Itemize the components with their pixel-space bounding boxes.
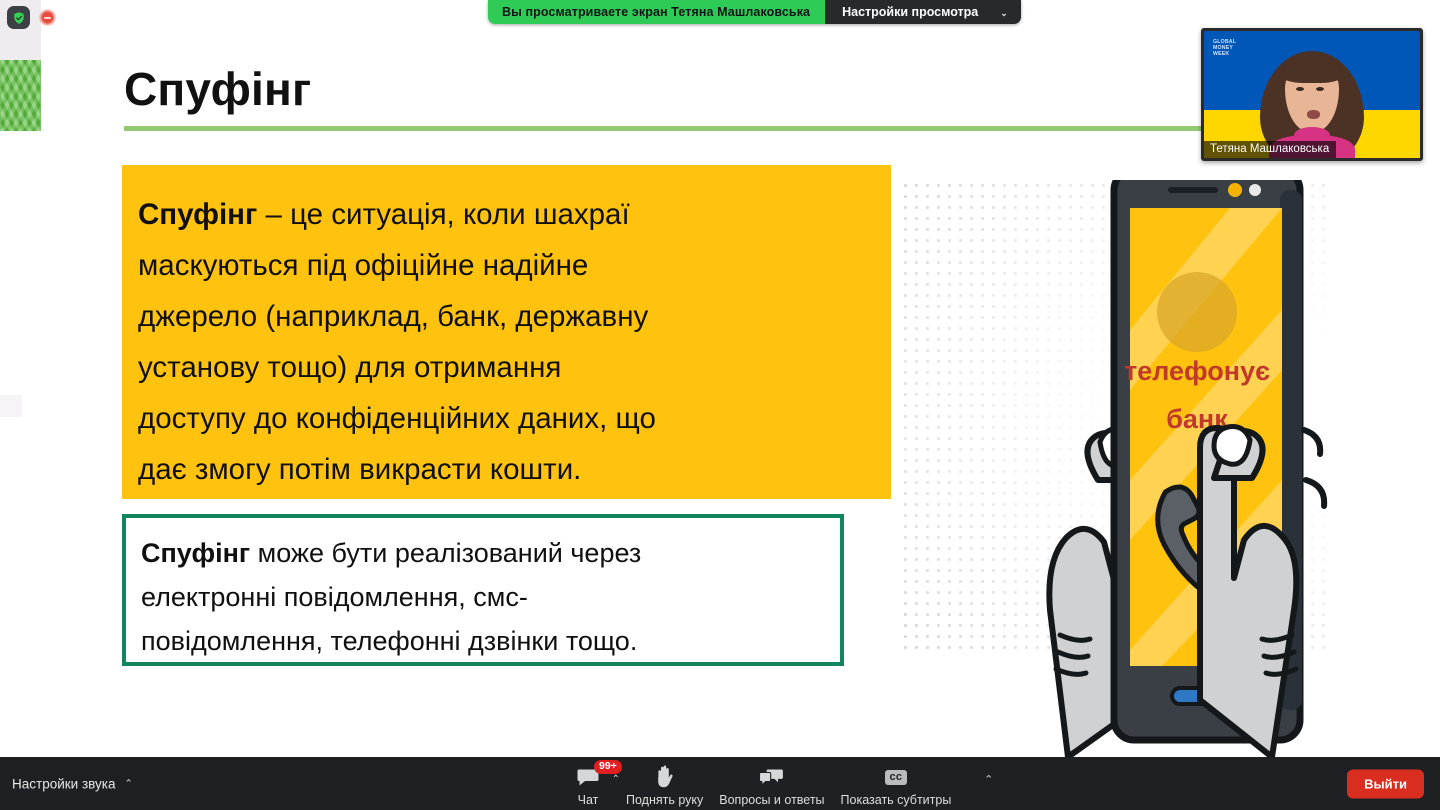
callout-line: джерело (наприклад, банк, державну (138, 291, 868, 342)
closed-captions-button[interactable]: cc ⌃ Показать субтитры (833, 761, 960, 807)
stop-recording-indicator[interactable] (39, 9, 56, 26)
chat-label: Чат (578, 793, 599, 807)
edge-artifact (0, 395, 22, 417)
eye-right (1316, 87, 1324, 91)
callout-line: дає змогу потім викрасти кошти. (138, 444, 868, 495)
callout-line: маскуються під офіційне надійне (138, 240, 868, 291)
shield-check-icon[interactable] (7, 6, 30, 29)
phone-screen-line1: телефонує (1124, 356, 1270, 386)
floating-left-controls (0, 0, 41, 131)
raise-hand-button[interactable]: Поднять руку (618, 761, 711, 807)
audio-settings-label: Настройки звука (12, 776, 115, 791)
share-status-text: Вы просматриваете экран Тетяна Машлаковс… (488, 0, 825, 24)
qa-label: Вопросы и ответы (719, 793, 824, 807)
eye-left (1296, 87, 1304, 91)
definition-callout-yellow: Спуфінг – це ситуація, коли шахраї маску… (122, 165, 891, 499)
chevron-down-icon: ⌄ (1000, 8, 1008, 19)
callout-line: установу тощо) для отримання (138, 342, 868, 393)
meeting-toolbar: Настройки звука ⌃ 99+ ⌃ Чат (0, 757, 1440, 810)
toolbar-center-group: 99+ ⌃ Чат Поднять руку (558, 761, 959, 807)
callout-line: доступу до конфіденційних даних, що (138, 393, 868, 444)
audio-settings-button[interactable]: Настройки звука ⌃ (12, 776, 133, 791)
page-title: Спуфінг (124, 66, 311, 112)
callout-line: Спуфінг – це ситуація, коли шахраї (138, 189, 868, 240)
global-money-week-logo: GLOBAL MONEY WEEK (1213, 39, 1247, 57)
qa-bubbles-icon (759, 765, 784, 789)
hands-holding-phone-illustration: телефонує банк (900, 180, 1440, 757)
callout-line: повідомлення, телефонні дзвінки тощо. (141, 619, 824, 663)
view-options-button[interactable]: Настройки просмотра ⌄ (825, 0, 1021, 24)
presenter-video-tile[interactable]: GLOBAL MONEY WEEK Тетяна Машлаковська (1201, 28, 1423, 161)
cc-glyph: cc (885, 770, 908, 785)
chevron-up-icon: ⌃ (124, 778, 132, 789)
channels-callout-green: Спуфінг може бути реалізований через еле… (122, 514, 844, 666)
closed-captions-icon: cc ⌃ (885, 765, 908, 789)
mouth (1307, 110, 1320, 119)
participant-name-label: Тетяна Машлаковська (1204, 141, 1336, 158)
keyword-spoofing: Спуфінг (138, 198, 257, 231)
qa-button[interactable]: Вопросы и ответы (711, 761, 832, 807)
callout-line-text: може бути реалізований через (250, 538, 641, 568)
green-texture-strip (0, 60, 41, 131)
phone-and-hands-drawing: телефонує банк (900, 180, 1440, 757)
callout-line-text: – це ситуація, коли шахраї (257, 198, 629, 231)
callout-line: Спуфінг може бути реалізований через (141, 531, 824, 575)
keyword-spoofing: Спуфінг (141, 538, 250, 568)
view-options-label: Настройки просмотра (842, 5, 978, 19)
closed-captions-label: Показать субтитры (841, 793, 952, 807)
chat-button[interactable]: 99+ ⌃ Чат (558, 761, 618, 807)
screen-share-banner: Вы просматриваете экран Тетяна Машлаковс… (488, 0, 1021, 24)
title-underline-rule (124, 126, 1213, 131)
logo-line-3: WEEK (1213, 51, 1247, 57)
callout-line: електронні повідомлення, смс- (141, 575, 824, 619)
raise-hand-icon (655, 765, 675, 789)
zoom-screen-share-window: Спуфінг Спуфінг – це ситуація, коли шахр… (0, 0, 1440, 810)
raise-hand-label: Поднять руку (626, 793, 703, 807)
leave-meeting-button[interactable]: Выйти (1347, 769, 1424, 798)
chevron-up-icon[interactable]: ⌃ (984, 773, 993, 786)
